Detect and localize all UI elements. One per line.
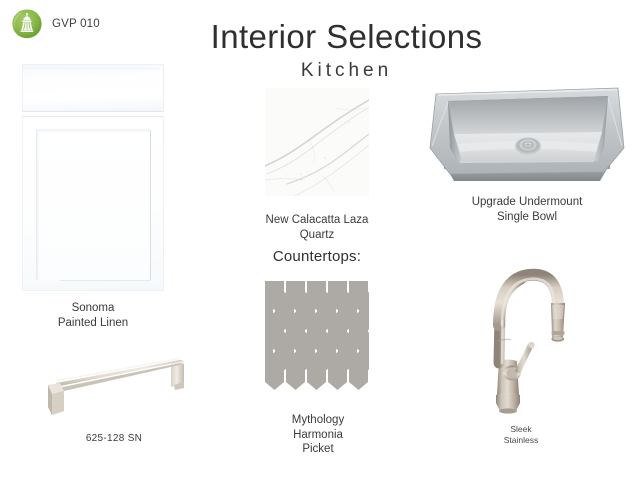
- cabinet-caption: Sonoma Painted Linen: [22, 301, 164, 330]
- page-title: Interior Selections: [0, 18, 637, 56]
- sink-caption: Upgrade Undermount Single Bowl: [437, 195, 617, 224]
- kitchen-faucet-image: [466, 245, 576, 417]
- countertops-heading: Countertops:: [249, 248, 385, 265]
- faucet-caption: Sleek Stainless: [468, 424, 574, 446]
- cabinet-shaker-inset: [36, 129, 150, 280]
- cabinet-drawer-front: [22, 64, 164, 112]
- pull-caption: 625-128 SN: [34, 432, 194, 447]
- picket-tile-sample: [262, 278, 374, 396]
- interior-selections-board: GVP 010 Interior Selections Kitchen Sono…: [0, 0, 637, 480]
- cabinet-pull-hardware: [34, 355, 194, 417]
- tile-caption: Mythology Harmonia Picket: [258, 413, 378, 457]
- kitchen-sink-image: [428, 82, 626, 194]
- cabinet-door-sample: [22, 64, 164, 291]
- sink-drain-icon: [515, 138, 541, 155]
- countertop-caption: New Calacatta Laza Quartz: [249, 213, 385, 242]
- quartz-slab-sample: [265, 88, 369, 196]
- cabinet-door-panel: [22, 116, 164, 291]
